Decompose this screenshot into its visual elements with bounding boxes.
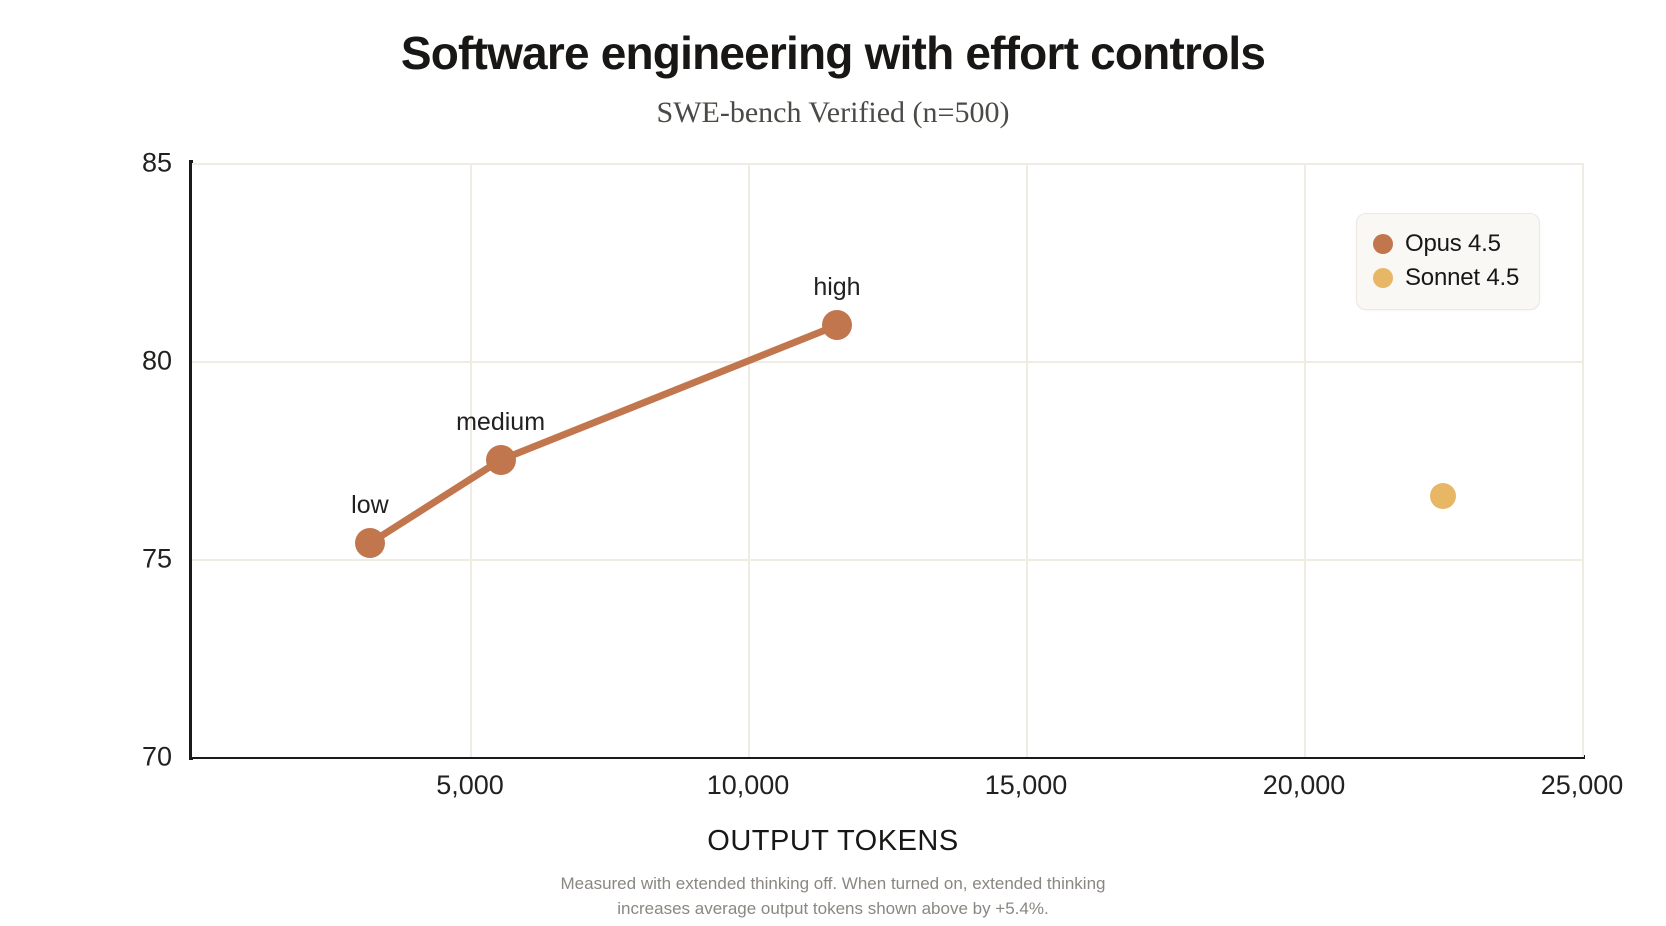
legend-item-label: Sonnet 4.5 — [1405, 264, 1519, 292]
data-point-marker[interactable] — [1430, 483, 1456, 509]
data-point-label: low — [240, 491, 500, 520]
x-tick-label: 5,000 — [360, 770, 580, 801]
chart-legend[interactable]: Opus 4.5Sonnet 4.5 — [1356, 213, 1540, 310]
legend-item-label: Opus 4.5 — [1405, 230, 1501, 258]
y-tick-label: 70 — [52, 742, 172, 773]
data-point-marker[interactable] — [822, 310, 852, 340]
footnote-line-1: Measured with extended thinking off. Whe… — [0, 872, 1666, 897]
data-point-label: medium — [371, 408, 631, 437]
y-tick-label: 85 — [52, 148, 172, 179]
legend-item[interactable]: Sonnet 4.5 — [1373, 261, 1523, 295]
page-subtitle: SWE-bench Verified (n=500) — [0, 96, 1666, 130]
x-tick-label: 20,000 — [1194, 770, 1414, 801]
x-tick-label: 25,000 — [1472, 770, 1666, 801]
data-point-label: high — [707, 273, 967, 302]
legend-swatch-icon — [1373, 234, 1393, 254]
x-tick-label: 15,000 — [916, 770, 1136, 801]
legend-swatch-icon — [1373, 268, 1393, 288]
data-point-marker[interactable] — [355, 528, 385, 558]
page-title: Software engineering with effort control… — [0, 28, 1666, 80]
footnote-line-2: increases average output tokens shown ab… — [0, 897, 1666, 922]
chart-footnote: Measured with extended thinking off. Whe… — [0, 872, 1666, 921]
y-tick-label: 80 — [52, 346, 172, 377]
chart-page: Software engineering with effort control… — [0, 0, 1666, 926]
y-tick-label: 75 — [52, 544, 172, 575]
x-tick-label: 10,000 — [638, 770, 858, 801]
legend-item[interactable]: Opus 4.5 — [1373, 227, 1523, 261]
data-point-marker[interactable] — [486, 445, 516, 475]
gridline-vertical — [1582, 163, 1584, 757]
x-axis-title: OUTPUT TOKENS — [0, 825, 1666, 858]
